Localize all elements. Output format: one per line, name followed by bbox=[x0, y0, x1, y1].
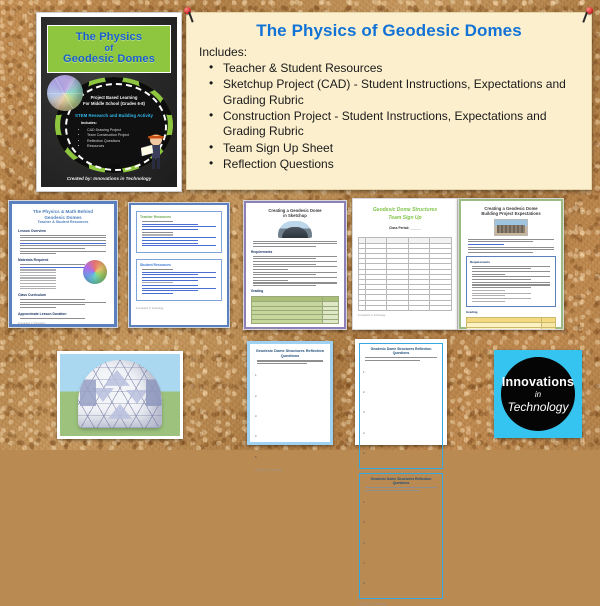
thumb3-grading-label: Grading bbox=[251, 289, 339, 293]
teacher-resources-heading: Teacher Resources bbox=[140, 215, 218, 219]
thumb1-title-line3: Teacher & Student Resources bbox=[18, 220, 108, 224]
includes-label: Includes: bbox=[199, 45, 581, 59]
includes-panel: The Physics of Geodesic Domes Includes: … bbox=[186, 12, 592, 190]
thumb5-requirements-box: Requirements bbox=[466, 256, 556, 307]
thumb5-section-heading: Requirements bbox=[470, 260, 552, 264]
thumb3-requirement-lines bbox=[251, 256, 339, 287]
cover-title-line3: Geodesic Domes bbox=[63, 54, 155, 66]
cover-includes-label: Includes: bbox=[81, 121, 151, 127]
thumbnail-team-sign-up[interactable]: Geodesic Dome Structures Team Sign Up Cl… bbox=[352, 198, 458, 330]
logo-line-1: Innovations bbox=[502, 375, 574, 389]
thumb5-grading-label: Grading bbox=[466, 310, 556, 314]
push-pin-left-icon bbox=[183, 7, 197, 23]
thumbnail-reflection-questions-full[interactable]: Geodesic Dome Structures Reflection Ques… bbox=[247, 341, 333, 445]
thumb5-requirement-lines bbox=[470, 266, 552, 302]
reflection-title: Geodesic Dome Structures Reflection Ques… bbox=[363, 477, 439, 485]
geodesic-sphere-thumbnail-icon bbox=[83, 260, 107, 284]
reflection-question: 3. bbox=[363, 534, 439, 552]
thumb1-section-heading: Approximate Lesson Duration bbox=[18, 312, 108, 316]
reflection-question: 2. bbox=[363, 514, 439, 532]
cork-board-background: The Physics of Geodesic Domes Project Ba… bbox=[0, 0, 600, 450]
reflection-question: 4. bbox=[363, 424, 439, 442]
document-page: Creating a Geodesic Dome Building Projec… bbox=[459, 199, 563, 329]
reflect1-footer: Innovations in Technology bbox=[255, 469, 325, 472]
reflection-question: 4. bbox=[363, 554, 439, 572]
document-page: Geodesic Dome Structures Reflection Ques… bbox=[355, 339, 447, 445]
includes-item: Team Sign Up Sheet bbox=[223, 141, 581, 156]
logo-line-3: Technology bbox=[508, 400, 569, 414]
reflection-title: Geodesic Dome Structures Reflection Ques… bbox=[255, 349, 325, 358]
logo-circle: Innovations in Technology bbox=[501, 357, 575, 431]
reflection-question: 4. bbox=[255, 428, 325, 446]
student-resources-box: Student Resources bbox=[136, 259, 222, 301]
thumb1-body-lines bbox=[18, 235, 108, 255]
cover-credit: Created by: Innovations in Technology bbox=[41, 176, 177, 181]
student-cartoon-icon bbox=[141, 131, 171, 171]
thumb1-duration-lines bbox=[18, 318, 108, 319]
construction-photo-icon bbox=[494, 219, 528, 236]
reflection-question: 2. bbox=[363, 384, 439, 402]
sketchup-dome-render[interactable] bbox=[57, 351, 183, 439]
thumb3-section-heading: Requirements bbox=[251, 250, 339, 254]
thumb1-footer: Innovations in Technology bbox=[18, 322, 108, 325]
thumb3-title: Creating a Geodesic Dome in Sketchup bbox=[251, 208, 339, 219]
table-row bbox=[252, 319, 339, 323]
pin-needle bbox=[188, 12, 193, 23]
geodesic-dome-model bbox=[78, 360, 162, 428]
sketchup-scene bbox=[60, 354, 180, 436]
reflection-question: 3. bbox=[363, 404, 439, 422]
thumb5-title: Creating a Geodesic Dome Building Projec… bbox=[466, 206, 556, 217]
thumb3-title-line2: in Sketchup bbox=[251, 213, 339, 218]
reflection-question: 3. bbox=[255, 407, 325, 425]
includes-list: Teacher & Student Resources Sketchup Pro… bbox=[197, 61, 581, 173]
document-page: Geodesic Dome Structures Team Sign Up Cl… bbox=[353, 199, 457, 329]
thumb3-intro-lines bbox=[251, 241, 339, 247]
cover-subtitle-line2: For Middle School (Grades 6-8) bbox=[71, 101, 157, 107]
dome-facet bbox=[146, 380, 161, 406]
push-pin-right-icon bbox=[581, 7, 595, 23]
pin-needle bbox=[582, 12, 587, 23]
team-sign-up-table bbox=[358, 237, 452, 311]
includes-item: Reflection Questions bbox=[223, 157, 581, 172]
document-page: Creating a Geodesic Dome in Sketchup Req… bbox=[244, 201, 346, 329]
thumb1-curriculum-lines bbox=[18, 299, 108, 308]
reflection-question: 5. bbox=[255, 448, 325, 466]
document-page: Geodesic Dome Structures Reflection Ques… bbox=[247, 341, 333, 445]
thumb4-title-line2: Team Sign Up bbox=[358, 215, 452, 223]
includes-item: Construction Project - Student Instructi… bbox=[223, 109, 581, 140]
teacher-resources-box: Teacher Resources bbox=[136, 211, 222, 253]
thumb5-title-line2: Building Project Expectations bbox=[466, 211, 556, 216]
thumbnail-resource-links[interactable]: Teacher Resources Student Resources bbox=[128, 202, 230, 328]
reflection-question: 1. bbox=[255, 367, 325, 385]
thumb4-title: Geodesic Dome Structures Team Sign Up bbox=[358, 207, 452, 222]
cover-subtitle: Project Based Learning For Middle School… bbox=[71, 95, 157, 108]
thumb1-section-heading: Class Curriculum bbox=[18, 293, 108, 297]
thumb3-grading-table bbox=[251, 296, 339, 324]
thumbnail-reflection-questions-half[interactable]: Geodesic Dome Structures Reflection Ques… bbox=[355, 339, 447, 445]
reflection-question: 5. bbox=[363, 575, 439, 593]
reflection-question: 2. bbox=[255, 387, 325, 405]
includes-item: Teacher & Student Resources bbox=[223, 61, 581, 76]
reflection-question: 1. bbox=[363, 493, 439, 511]
table-row bbox=[359, 305, 452, 310]
thumbnail-teacher-student-resources[interactable]: The Physics & Math Behind Geodesic Domes… bbox=[8, 200, 118, 328]
cover-activity-label: STEM Research and Building Activity bbox=[71, 113, 157, 118]
teacher-resources-lines bbox=[140, 221, 218, 246]
thumbnail-sketchup-project[interactable]: Creating a Geodesic Dome in Sketchup Req… bbox=[243, 200, 347, 330]
reflection-question: 5. bbox=[363, 445, 439, 463]
table-row bbox=[467, 327, 556, 330]
thumb4-footer: Innovations in Technology bbox=[358, 314, 452, 317]
thumb5-grading-table bbox=[466, 317, 556, 330]
brand-logo[interactable]: Innovations in Technology bbox=[494, 350, 582, 438]
thumbnail-building-project-expectations[interactable]: Creating a Geodesic Dome Building Projec… bbox=[458, 198, 564, 330]
page-title: The Physics of Geodesic Domes bbox=[197, 21, 581, 41]
reflection-question: 1. bbox=[363, 363, 439, 381]
class-period-field: Class Period: ______ bbox=[358, 226, 452, 230]
thumb5-intro-lines bbox=[466, 239, 556, 254]
document-page: The Physics & Math Behind Geodesic Domes… bbox=[9, 201, 117, 327]
reflection-title: Geodesic Dome Structures Reflection Ques… bbox=[363, 347, 439, 355]
logo-line-2: in bbox=[535, 390, 541, 399]
document-page: Teacher Resources Student Resources bbox=[129, 203, 229, 327]
thumb4-title-line1: Geodesic Dome Structures bbox=[358, 207, 452, 215]
reflection-intro-lines bbox=[255, 360, 325, 364]
thumb1-title: The Physics & Math Behind Geodesic Domes… bbox=[18, 209, 108, 225]
thumb1-section-heading: Lesson Overview bbox=[18, 229, 108, 233]
thumb2-footer: Innovations in Technology bbox=[136, 307, 222, 310]
student-resources-heading: Student Resources bbox=[140, 263, 218, 267]
reflection-half-copy: Geodesic Dome Structures Reflection Ques… bbox=[359, 473, 443, 599]
product-cover-thumbnail[interactable]: The Physics of Geodesic Domes Project Ba… bbox=[36, 12, 182, 192]
reflection-half-copy: Geodesic Dome Structures Reflection Ques… bbox=[359, 343, 443, 469]
student-resources-lines bbox=[140, 269, 218, 294]
thumb3-footer: Innovations in Technology bbox=[251, 327, 339, 330]
dome-facet bbox=[80, 380, 96, 406]
dome-photo-icon bbox=[278, 221, 312, 238]
cover-chalkboard: The Physics of Geodesic Domes Project Ba… bbox=[41, 17, 177, 187]
cover-title-block: The Physics of Geodesic Domes bbox=[47, 25, 171, 73]
includes-item: Sketchup Project (CAD) - Student Instruc… bbox=[223, 77, 581, 108]
